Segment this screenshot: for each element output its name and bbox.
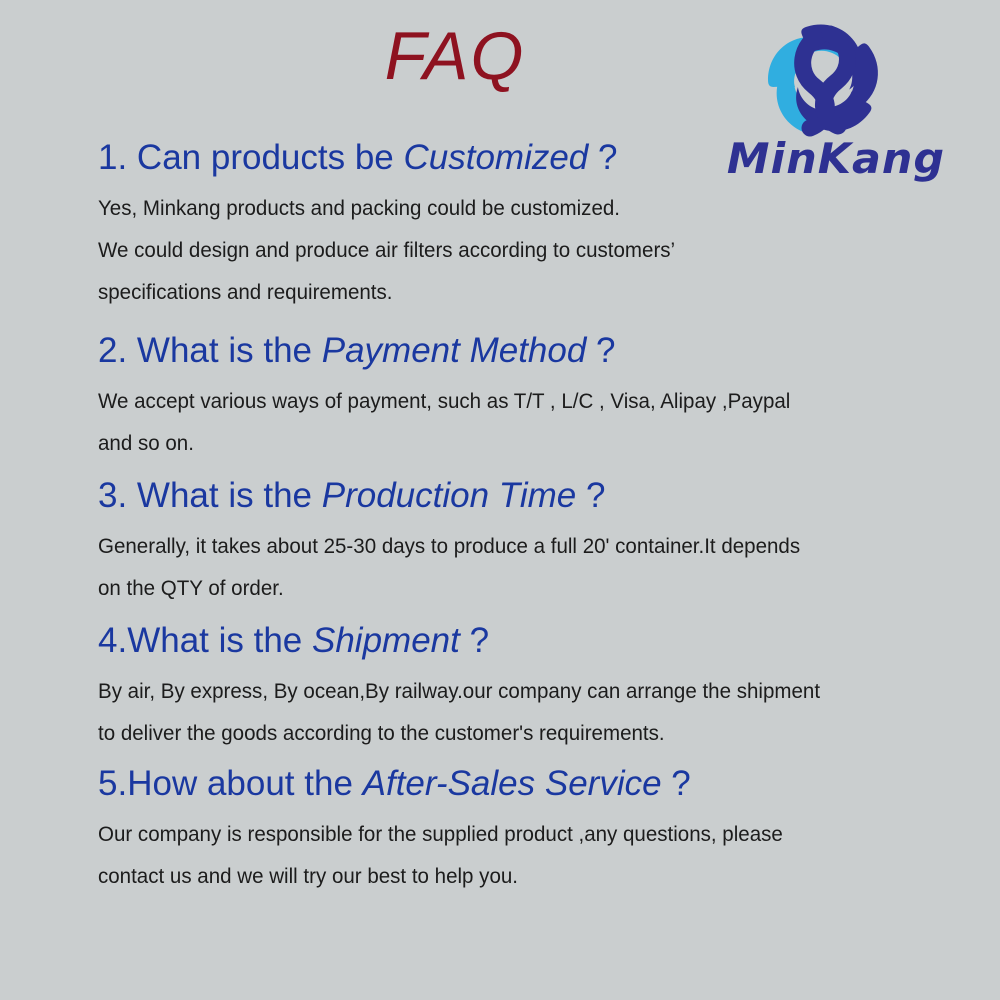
faq-answer-3-line-1: Generally, it takes about 25-30 days to … [98,525,938,567]
faq-item-4: 4.What is the Shipment ? By air, By expr… [98,619,978,754]
faq-question-5-tail: ? [662,764,691,803]
faq-answer-5: Our company is responsible for the suppl… [98,813,938,897]
spacer [98,319,978,329]
faq-question-3-number: 3. [98,476,127,515]
faq-question-1: 1. Can products be Customized ? [98,136,978,181]
faq-question-3-emphasis: Production Time [322,476,577,515]
faq-answer-2-line-2: and so on. [98,422,938,464]
faq-question-4-lead: What is the [127,621,312,660]
faq-question-5-number: 5. [98,764,127,803]
faq-question-4-emphasis: Shipment [312,621,460,660]
faq-answer-4-line-2: to deliver the goods according to the cu… [98,712,938,754]
faq-question-1-tail: ? [588,138,617,177]
faq-answer-1: Yes, Minkang products and packing could … [98,187,938,313]
faq-question-1-number: 1. [98,138,127,177]
faq-item-1: 1. Can products be Customized ? Yes, Min… [98,136,978,313]
faq-answer-5-line-2: contact us and we will try our best to h… [98,855,938,897]
faq-answer-3-line-2: on the QTY of order. [98,567,938,609]
faq-question-3: 3. What is the Production Time ? [98,474,978,519]
faq-item-5: 5.How about the After-Sales Service ? Ou… [98,762,978,897]
faq-question-2-tail: ? [586,331,615,370]
faq-answer-1-line-2: We could design and produce air filters … [98,229,938,271]
faq-answer-4: By air, By express, By ocean,By railway.… [98,670,938,754]
minkang-swirl-logo-icon [760,16,888,144]
faq-question-1-emphasis: Customized [403,138,588,177]
faq-answer-4-line-1: By air, By express, By ocean,By railway.… [98,670,938,712]
faq-question-2-number: 2. [98,331,127,370]
faq-question-5-lead: How about the [127,764,362,803]
faq-question-4-tail: ? [460,621,489,660]
faq-answer-5-line-1: Our company is responsible for the suppl… [98,813,938,855]
faq-item-3: 3. What is the Production Time ? General… [98,474,978,609]
faq-answer-2-line-1: We accept various ways of payment, such … [98,380,938,422]
faq-question-5-emphasis: After-Sales Service [363,764,662,803]
faq-question-2: 2. What is the Payment Method ? [98,329,978,374]
faq-answer-1-line-1: Yes, Minkang products and packing could … [98,187,938,229]
faq-list: 1. Can products be Customized ? Yes, Min… [98,136,978,903]
faq-question-4: 4.What is the Shipment ? [98,619,978,664]
faq-answer-3: Generally, it takes about 25-30 days to … [98,525,938,609]
faq-question-2-lead: What is the [127,331,322,370]
faq-answer-2: We accept various ways of payment, such … [98,380,938,464]
faq-question-4-number: 4. [98,621,127,660]
faq-question-2-emphasis: Payment Method [322,331,587,370]
faq-question-1-lead: Can products be [127,138,403,177]
faq-answer-1-line-3: specifications and requirements. [98,271,938,313]
faq-item-2: 2. What is the Payment Method ? We accep… [98,329,978,464]
faq-question-3-tail: ? [576,476,605,515]
faq-question-3-lead: What is the [127,476,322,515]
faq-question-5: 5.How about the After-Sales Service ? [98,762,978,807]
